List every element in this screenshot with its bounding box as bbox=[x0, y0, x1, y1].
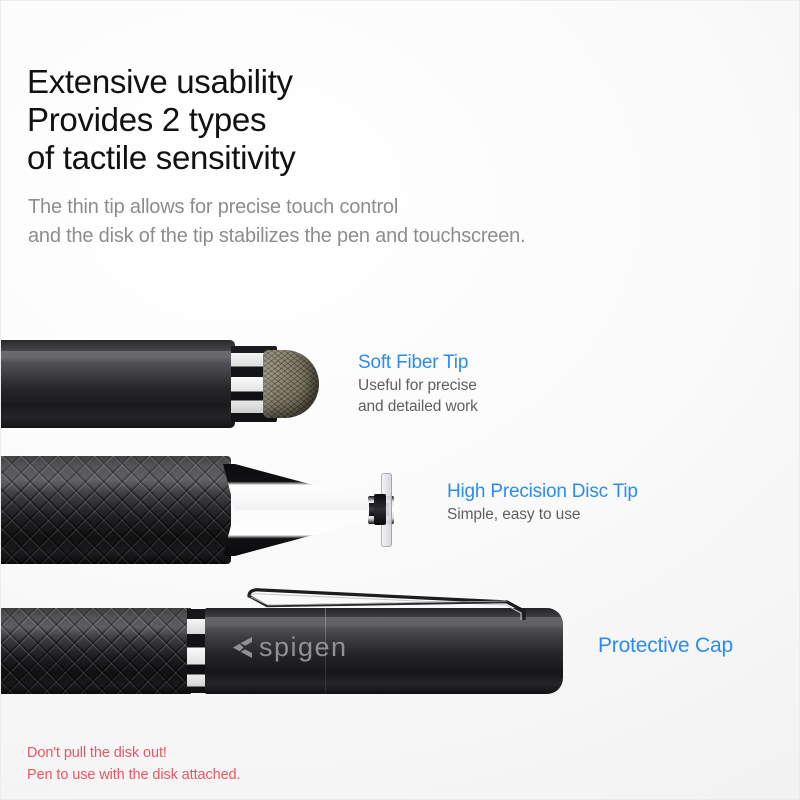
headline-line-2: Provides 2 types bbox=[27, 101, 296, 139]
pen-clip-icon bbox=[245, 580, 545, 620]
callout-protective-cap: Protective Cap bbox=[598, 634, 733, 658]
cone-shape-icon bbox=[223, 456, 423, 564]
callout-sub-line-1: Useful for precise bbox=[358, 375, 478, 396]
subtitle-line-1: The thin tip allows for precise touch co… bbox=[28, 193, 525, 222]
disc-hub bbox=[374, 494, 386, 525]
callout-title: High Precision Disc Tip bbox=[447, 480, 638, 504]
warning-line-2: Pen to use with the disk attached. bbox=[27, 764, 240, 786]
callout-high-precision-disc-tip: High Precision Disc Tip Simple, easy to … bbox=[447, 480, 638, 525]
page-subtitle: The thin tip allows for precise touch co… bbox=[28, 193, 525, 251]
callout-title: Soft Fiber Tip bbox=[358, 351, 478, 375]
page-title: Extensive usability Provides 2 types of … bbox=[27, 63, 296, 177]
pen-grip-knurled bbox=[0, 608, 191, 694]
callout-title: Protective Cap bbox=[598, 634, 733, 658]
product-feature-poster: Extensive usability Provides 2 types of … bbox=[0, 0, 800, 800]
warning-line-1: Don't pull the disk out! bbox=[27, 742, 240, 764]
stylus-with-protective-cap-image: spigen bbox=[0, 584, 595, 694]
pen-barrel-knurled bbox=[0, 456, 231, 564]
spigen-mark-icon bbox=[233, 637, 252, 658]
headline-line-3: of tactile sensitivity bbox=[27, 139, 296, 177]
brand-name: spigen bbox=[259, 634, 348, 661]
callout-soft-fiber-tip: Soft Fiber Tip Useful for precise and de… bbox=[358, 351, 478, 417]
pen-clip bbox=[245, 580, 545, 620]
pen-barrel-smooth bbox=[0, 340, 235, 428]
callout-sub-line-1: Simple, easy to use bbox=[447, 504, 638, 525]
fiber-tip-mesh bbox=[263, 350, 319, 418]
subtitle-line-2: and the disk of the tip stabilizes the p… bbox=[28, 222, 525, 251]
stylus-soft-fiber-tip-image bbox=[0, 340, 295, 428]
callout-sub-line-2: and detailed work bbox=[358, 396, 478, 417]
headline-line-1: Extensive usability bbox=[27, 63, 296, 101]
chrome-cone bbox=[223, 456, 423, 564]
stylus-disc-tip-image bbox=[0, 456, 415, 564]
warning-note: Don't pull the disk out! Pen to use with… bbox=[27, 742, 240, 786]
brand-logo: spigen bbox=[233, 634, 348, 661]
